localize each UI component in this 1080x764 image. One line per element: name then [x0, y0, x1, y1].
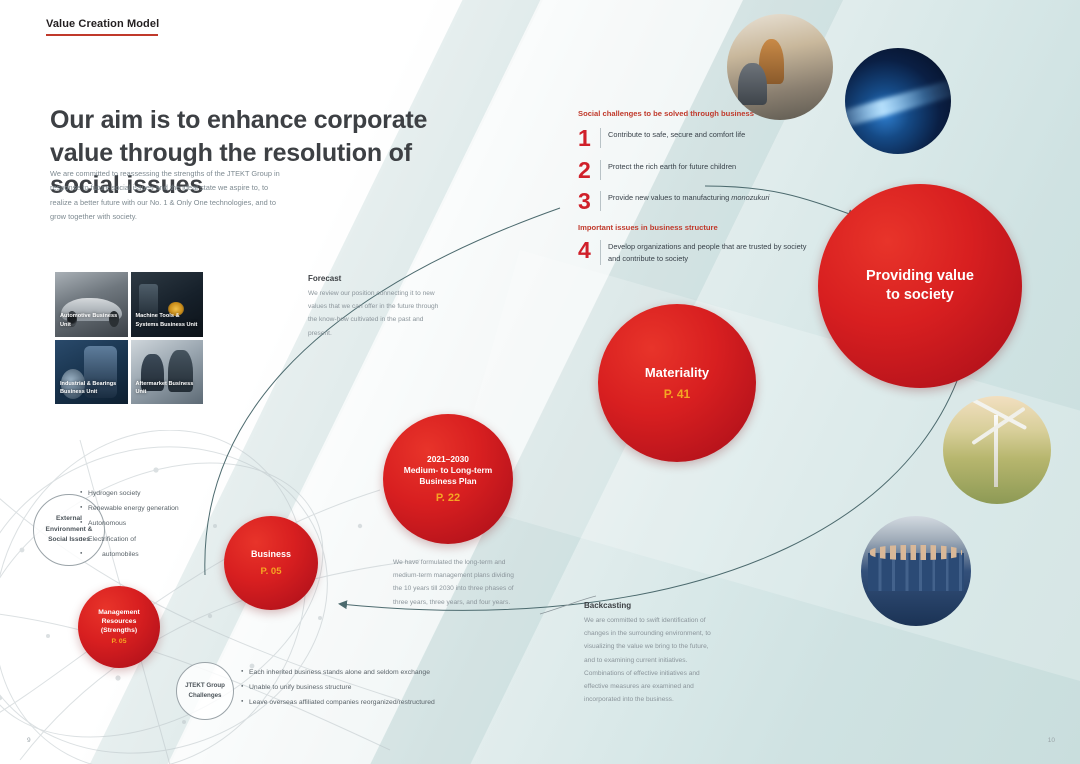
challenge-row: 2 Protect the rich earth for future chil…: [578, 160, 803, 181]
list-item: Each inherited business stands alone and…: [241, 668, 435, 678]
note-body: We have formulated the long-term and med…: [393, 556, 521, 609]
business-unit-tile[interactable]: Industrial & Bearings Business Unit: [55, 340, 128, 405]
note-body: We review our position connecting it to …: [308, 287, 444, 340]
business-unit-tile[interactable]: Automotive Business Unit: [55, 272, 128, 337]
note-body: We are committed to swift identification…: [584, 614, 720, 706]
business-unit-label: Automotive Business Unit: [60, 312, 124, 329]
challenge-number: 3: [578, 191, 600, 212]
group-challenges-list: Each inherited business stands alone and…: [241, 668, 435, 714]
challenge-row: 4 Develop organizations and people that …: [578, 240, 810, 265]
note-title: Backcasting: [584, 601, 720, 610]
challenge-text-italic: monozukuri: [731, 193, 769, 202]
circle-page-ref: P. 41: [664, 387, 690, 401]
circle-title: Providing value to society: [866, 267, 974, 304]
backcasting-note: Backcasting We are committed to swift id…: [584, 601, 720, 706]
circle-page-ref: P. 22: [436, 492, 460, 504]
challenge-text: Provide new values to manufacturing mono…: [600, 191, 769, 211]
list-item: Unable to unify business structure: [241, 683, 435, 693]
circle-page-ref: P. 05: [112, 638, 127, 645]
challenge-row: 3 Provide new values to manufacturing mo…: [578, 191, 803, 212]
page-number-right: 10: [1048, 737, 1055, 744]
circle-title: Materiality: [645, 365, 709, 382]
note-title: Forecast: [308, 274, 444, 283]
business-structure-heading: Important issues in business structure: [578, 222, 803, 233]
list-item: Hydrogen society: [80, 489, 179, 499]
page-number-left: 9: [27, 737, 31, 744]
business-unit-label: Machine Tools & Systems Business Unit: [136, 312, 200, 329]
earth-from-space-photo: [845, 48, 951, 154]
challenge-text: Develop organizations and people that ar…: [600, 240, 810, 265]
challenge-row: 1 Contribute to safe, secure and comfort…: [578, 128, 803, 149]
circle-title: Business: [251, 549, 291, 561]
social-challenges-block: Social challenges to be solved through b…: [578, 108, 803, 275]
business-circle[interactable]: Business P. 05: [224, 516, 318, 610]
challenge-number: 1: [578, 128, 600, 149]
list-item-cont: automobiles: [80, 550, 179, 560]
business-unit-tile[interactable]: Aftermarket Business Unit: [131, 340, 204, 405]
employee-group-photo: [861, 516, 971, 626]
list-item: Leave overseas affiliated companies reor…: [241, 698, 435, 708]
wind-turbine-photo: [943, 396, 1051, 504]
circle-page-ref: P. 05: [261, 566, 282, 577]
circle-title: Management Resources (Strengths): [98, 609, 140, 635]
business-unit-grid: Automotive Business Unit Machine Tools &…: [55, 272, 203, 404]
challenge-number: 4: [578, 240, 600, 261]
business-unit-label: Aftermarket Business Unit: [136, 380, 200, 397]
forecast-note: Forecast We review our position connecti…: [308, 274, 444, 340]
family-photo: [727, 14, 833, 120]
challenge-number: 2: [578, 160, 600, 181]
list-item: Autonomous: [80, 519, 179, 529]
circle-title: 2021–2030 Medium- to Long-term Business …: [404, 454, 492, 486]
materiality-circle[interactable]: Materiality P. 41: [598, 304, 756, 462]
external-environment-list: Hydrogen society Renewable energy genera…: [80, 489, 179, 565]
list-item: Renewable energy generation: [80, 504, 179, 514]
challenge-text-main: Provide new values to manufacturing: [608, 193, 731, 202]
title-underline: [46, 34, 158, 36]
challenge-text: Contribute to safe, secure and comfort l…: [600, 128, 745, 148]
turbine-blade-icon: [971, 407, 1025, 445]
group-challenges-bubble[interactable]: JTEKT Group Challenges: [176, 662, 234, 720]
header: Value Creation Model: [46, 18, 159, 36]
list-item: Electrification of: [80, 535, 179, 545]
challenge-text: Protect the rich earth for future childr…: [600, 160, 736, 180]
business-plan-note: We have formulated the long-term and med…: [393, 556, 521, 609]
value-creation-model-page: Value Creation Model Our aim is to enhan…: [0, 0, 1080, 764]
intro-paragraph: We are committed to reassessing the stre…: [50, 167, 280, 225]
business-unit-label: Industrial & Bearings Business Unit: [60, 380, 124, 397]
page-title: Value Creation Model: [46, 18, 159, 34]
providing-value-circle[interactable]: Providing value to society: [818, 184, 1022, 388]
business-plan-circle[interactable]: 2021–2030 Medium- to Long-term Business …: [383, 414, 513, 544]
business-unit-tile[interactable]: Machine Tools & Systems Business Unit: [131, 272, 204, 337]
management-resources-circle[interactable]: Management Resources (Strengths) P. 05: [78, 586, 160, 668]
